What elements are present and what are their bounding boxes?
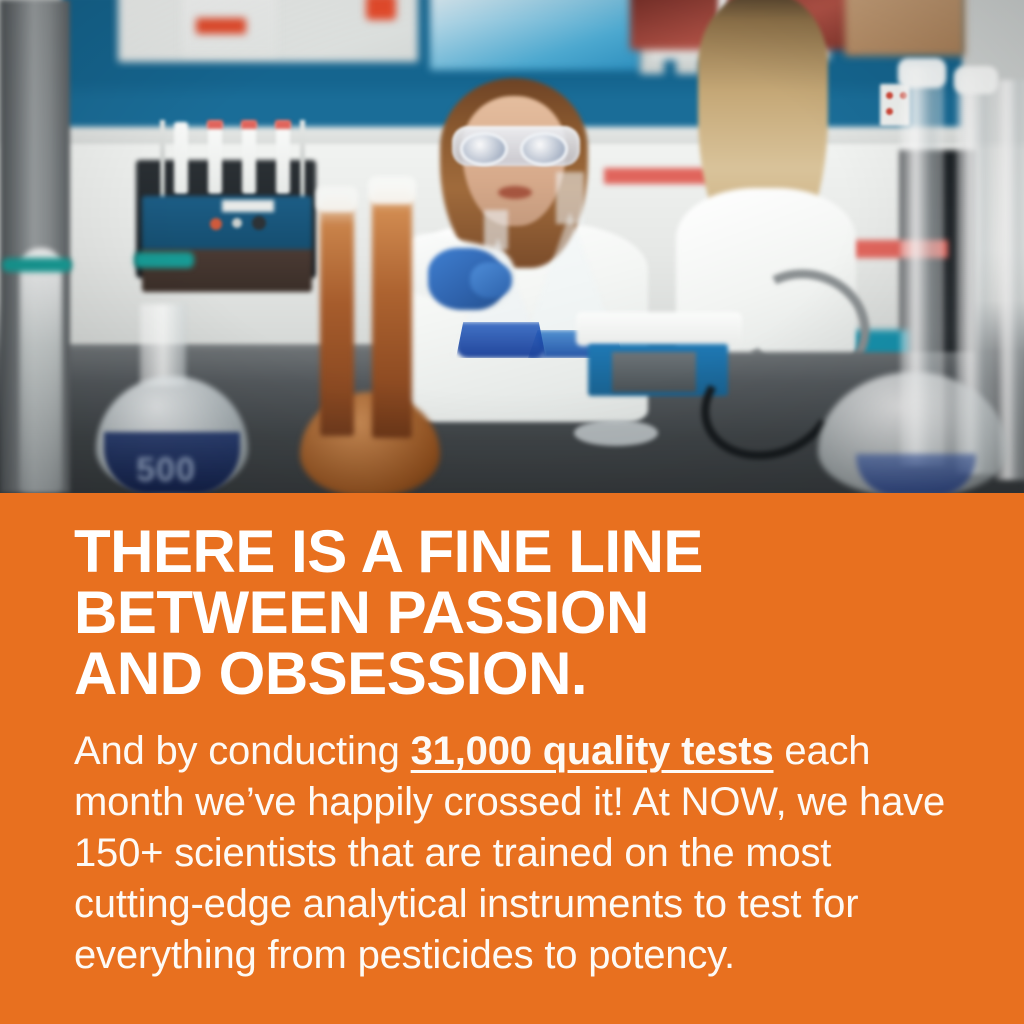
amber-flask-neck-1	[320, 196, 354, 436]
amber-flask-neck-2	[372, 186, 412, 438]
wall-outlet-dot-1	[886, 92, 893, 99]
orange-message-panel: THERE IS A FINE LINE BETWEEN PASSION AND…	[0, 493, 1024, 1024]
analytical-balance-pan	[576, 312, 742, 346]
stand-rod-a	[160, 120, 165, 200]
body-copy: And by conducting 31,000 quality tests e…	[74, 726, 954, 981]
petri-dish	[574, 420, 658, 446]
erlenmeyer-flask-a-liquid	[456, 322, 546, 358]
graduated-cylinder-2-stopper	[954, 66, 998, 94]
instrument-knob-black	[252, 216, 266, 230]
flask-teal-band	[134, 252, 194, 268]
test-tube-2	[208, 122, 222, 194]
test-tube-cap-3	[241, 120, 257, 129]
amber-flask-stopper-2	[368, 176, 416, 204]
body-copy-lead: And by conducting	[74, 729, 411, 773]
foreground-glass-left	[20, 248, 62, 493]
blue-glove-fingers	[470, 262, 512, 298]
scientist-one-mouth	[498, 186, 532, 199]
test-tube-cap-4	[275, 120, 291, 129]
volumetric-flask-neck-left	[140, 304, 186, 386]
test-tube-cap-2	[207, 120, 223, 129]
lab-photo: 500	[0, 0, 1024, 493]
analytical-balance-screen	[612, 352, 696, 392]
test-tube-3	[242, 122, 256, 194]
teal-tape-marker	[2, 258, 72, 272]
test-tube-4	[276, 122, 290, 194]
amber-flask-stopper-1	[316, 186, 358, 212]
volumetric-flask-right-liquid	[856, 454, 976, 493]
wall-outlet-dot-3	[886, 108, 893, 115]
safety-goggles-lens-right	[520, 132, 568, 166]
cabinet-box-tag-red	[366, 0, 396, 20]
body-copy-emphasis: 31,000 quality tests	[411, 729, 774, 773]
instrument-knob-grey	[232, 218, 242, 228]
flask-volume-marking: 500	[112, 452, 220, 488]
headline: THERE IS A FINE LINE BETWEEN PASSION AND…	[74, 521, 954, 704]
safety-goggles-lens-left	[460, 132, 508, 166]
cabinet-carton	[845, 0, 965, 56]
cabinet-contents-blue	[430, 0, 640, 70]
social-card: 500 THERE IS A FINE LINE BETWEEN PASSION…	[0, 0, 1024, 1024]
instrument-knob-red	[210, 218, 222, 230]
graduated-cylinder-1-stopper	[898, 58, 946, 88]
stand-rod-b	[300, 120, 305, 200]
cabinet-box-label-red	[196, 18, 246, 34]
instrument-display	[222, 200, 274, 212]
test-tube-1	[174, 122, 188, 194]
